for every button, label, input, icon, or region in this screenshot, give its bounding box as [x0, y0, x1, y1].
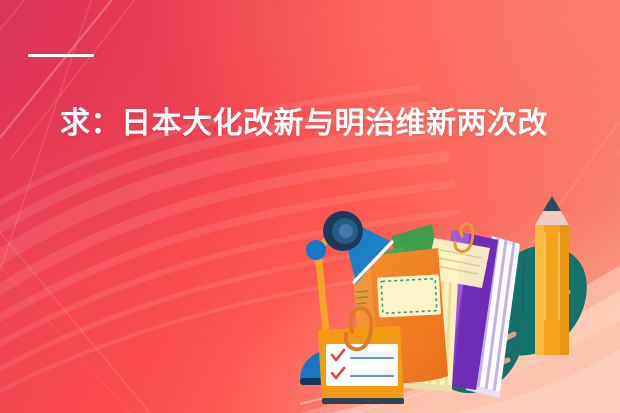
wave-bands [300, 266, 620, 413]
cover-card: 求：日本大化改新与明治维新两次改 [0, 0, 620, 413]
page-title: 求：日本大化改新与明治维新两次改 [60, 104, 620, 146]
title-divider [28, 54, 94, 57]
background-decor [0, 0, 620, 413]
